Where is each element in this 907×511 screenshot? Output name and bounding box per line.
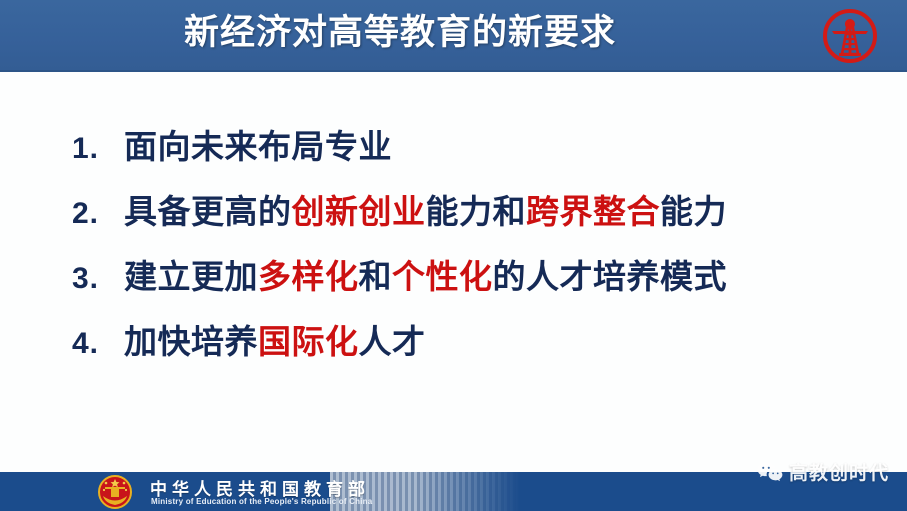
- text-segment-highlight: 国际化: [258, 323, 359, 360]
- ministry-name-en: Ministry of Education of the People's Re…: [151, 497, 372, 506]
- list-item: 4. 加快培养国际化人才: [72, 315, 872, 380]
- text-segment: 能力和: [426, 193, 527, 230]
- tower-emblem-logo: [820, 7, 880, 65]
- text-segment-highlight: 跨界整合: [526, 193, 660, 230]
- text-segment: 的人才培养模式: [493, 258, 728, 295]
- list-item-text: 加快培养国际化人才: [124, 315, 426, 363]
- list-item: 2. 具备更高的创新创业能力和跨界整合能力: [72, 185, 872, 250]
- watermark-text: 高教创时代: [789, 458, 889, 485]
- list-item-number: 2.: [72, 197, 124, 231]
- list-item-number: 3.: [72, 262, 124, 296]
- requirements-list: 1. 面向未来布局专业 2. 具备更高的创新创业能力和跨界整合能力 3. 建立更…: [72, 120, 872, 380]
- text-segment: 人才: [359, 323, 426, 360]
- text-segment: 加快培养: [124, 323, 258, 360]
- slide-title: 新经济对高等教育的新要求: [0, 8, 800, 58]
- text-segment-highlight: 多样化: [258, 258, 359, 295]
- text-segment: 面向未来布局专业: [124, 128, 392, 165]
- list-item-text: 面向未来布局专业: [124, 120, 392, 168]
- list-item-text: 具备更高的创新创业能力和跨界整合能力: [124, 185, 727, 233]
- text-segment: 能力: [660, 193, 727, 230]
- china-national-emblem: [97, 474, 133, 510]
- text-segment: 和: [359, 258, 393, 295]
- list-item-number: 1.: [72, 132, 124, 166]
- text-segment-highlight: 个性化: [392, 258, 493, 295]
- slide-header-band: 新经济对高等教育的新要求: [0, 0, 907, 72]
- list-item: 1. 面向未来布局专业: [72, 120, 872, 185]
- list-item: 3. 建立更加多样化和个性化的人才培养模式: [72, 250, 872, 315]
- presentation-slide: 新经济对高等教育的新要求 1. 面向未来布局专业: [0, 0, 907, 511]
- list-item-number: 4.: [72, 327, 124, 361]
- wechat-watermark: 高教创时代: [757, 458, 889, 485]
- text-segment: 具备更高的: [124, 193, 292, 230]
- text-segment-highlight: 创新创业: [292, 193, 426, 230]
- list-item-text: 建立更加多样化和个性化的人才培养模式: [124, 250, 727, 298]
- wechat-icon: [757, 461, 783, 483]
- text-segment: 建立更加: [124, 258, 258, 295]
